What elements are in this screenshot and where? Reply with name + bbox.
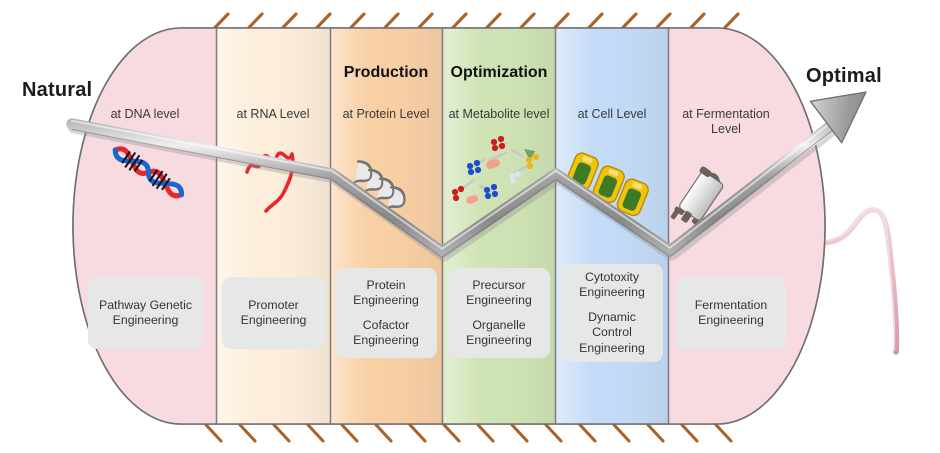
stage-sublabel-metabolite: at Metabolite level (441, 107, 557, 122)
chip-line: Engineering (353, 293, 419, 308)
capsule-tail-curve (820, 210, 896, 352)
chip-line: Promoter (248, 298, 299, 313)
stage-bar-fermentation (668, 26, 828, 426)
chip-line: Engineering (698, 313, 764, 328)
stage-sublabel-rna: at RNA Level (219, 107, 327, 122)
chip-line: Pathway Genetic (99, 298, 192, 313)
chip-fermentation-engineering: Fermentation Engineering (676, 277, 786, 349)
stage-header-optimization: Optimization (443, 64, 555, 82)
chip-pathway-genetic-engineering: Pathway Genetic Engineering (88, 277, 203, 349)
chip-line: Engineering (579, 341, 645, 356)
chip-promoter-engineering: Promoter Engineering (222, 277, 325, 349)
chip-line: Engineering (113, 313, 179, 328)
chip-cytotoxity-dynamic-control-engineering: Cytotoxity Engineering Dynamic Control E… (561, 264, 663, 362)
stage-sublabel-fermentation: at Fermentation Level (670, 107, 782, 137)
chip-line: Engineering (579, 285, 645, 300)
diagram-canvas: Natural Optimal at DNA level Pathway Gen… (0, 0, 940, 453)
chip-line: Control (592, 325, 632, 340)
chip-line: Engineering (241, 313, 307, 328)
stage-header-production: Production (331, 64, 441, 82)
chip-line: Fermentation (695, 298, 767, 313)
chip-line: Engineering (353, 333, 419, 348)
chip-line: Engineering (466, 333, 532, 348)
chip-protein-cofactor-engineering: Protein Engineering Cofactor Engineering (335, 268, 437, 358)
stage-bar-dna (73, 26, 216, 426)
chip-line: Cytotoxity (585, 270, 639, 285)
optimal-label: Optimal (806, 65, 882, 88)
stage-sublabel-cell: at Cell Level (557, 107, 667, 122)
chip-line: Organelle (472, 318, 525, 333)
chip-line: Dynamic (588, 310, 636, 325)
stage-sublabel-dna: at DNA level (89, 107, 201, 122)
capsule-tail-curve-highlight (820, 208, 894, 350)
chip-precursor-organelle-engineering: Precursor Engineering Organelle Engineer… (448, 268, 550, 358)
chip-line: Engineering (466, 293, 532, 308)
chip-line: Precursor (472, 278, 525, 293)
chip-line: Cofactor (363, 318, 409, 333)
stage-sublabel-line2: Level (711, 122, 741, 136)
natural-label: Natural (22, 79, 92, 102)
stage-sublabel-line1: at Fermentation (682, 107, 770, 121)
stage-sublabel-protein: at Protein Level (331, 107, 441, 122)
chip-line: Protein (367, 278, 406, 293)
